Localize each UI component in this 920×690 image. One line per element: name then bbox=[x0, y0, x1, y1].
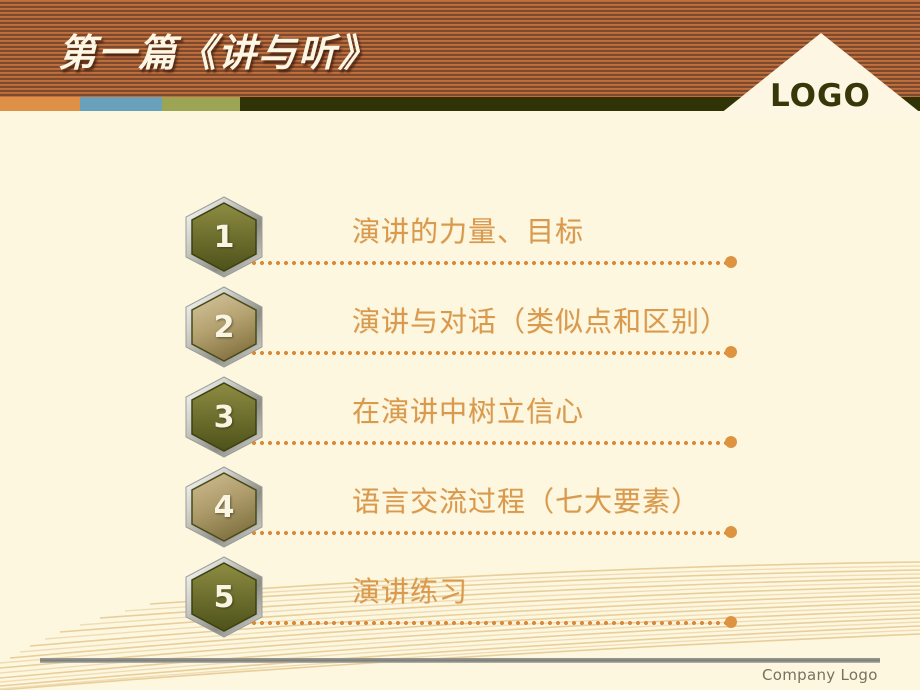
slide-canvas: 第一篇《讲与听》 LOGO bbox=[0, 0, 920, 690]
connector-end-dot bbox=[725, 526, 737, 538]
dotted-connector bbox=[250, 620, 728, 626]
connector-end-dot bbox=[725, 346, 737, 358]
list-item-label: 演讲与对话（类似点和区别） bbox=[352, 300, 729, 340]
list-item-label: 语言交流过程（七大要素） bbox=[352, 480, 700, 520]
footer-company-logo: Company Logo bbox=[762, 666, 878, 684]
connector-end-dot bbox=[725, 436, 737, 448]
list-item[interactable]: 1 演讲的力量、目标 bbox=[0, 196, 920, 286]
connector-end-dot bbox=[725, 616, 737, 628]
list-item[interactable]: 4 语言交流过程（七大要素） bbox=[0, 466, 920, 556]
dotted-connector bbox=[250, 350, 728, 356]
dotted-connector bbox=[250, 440, 728, 446]
list-item[interactable]: 2 演讲与对话（类似点和区别） bbox=[0, 286, 920, 376]
connector-end-dot bbox=[725, 256, 737, 268]
logo-label: LOGO bbox=[770, 78, 871, 114]
dotted-connector bbox=[250, 530, 728, 536]
list-item-label: 在演讲中树立信心 bbox=[352, 390, 584, 430]
dotted-connector bbox=[250, 260, 728, 266]
list-item[interactable]: 3 在演讲中树立信心 bbox=[0, 376, 920, 466]
footer-divider bbox=[40, 658, 880, 663]
list-item[interactable]: 5 演讲练习 bbox=[0, 556, 920, 646]
list-item-label: 演讲练习 bbox=[352, 570, 468, 610]
list-item-label: 演讲的力量、目标 bbox=[352, 210, 584, 250]
